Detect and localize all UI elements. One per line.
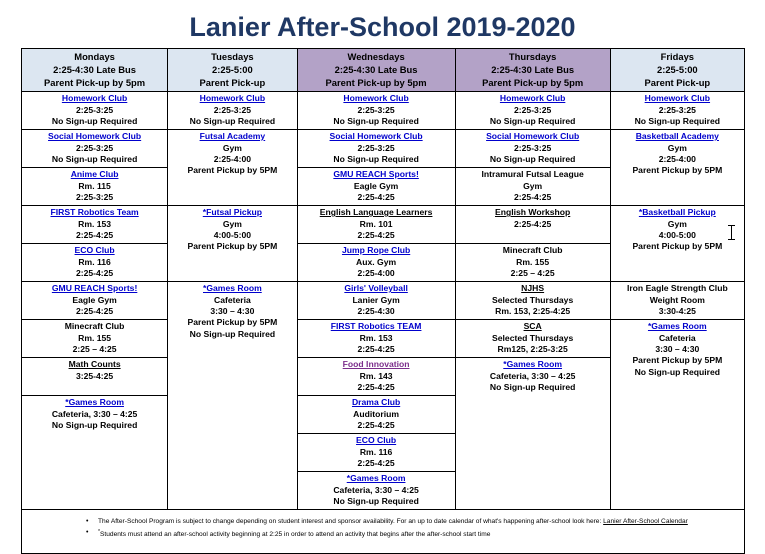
header-pickup-label: Parent Pick-up by 5pm bbox=[23, 77, 166, 90]
activity-title[interactable]: *Games Room bbox=[612, 321, 743, 332]
footer-note-text: The After-School Program is subject to c… bbox=[98, 516, 740, 527]
activity-cell: Homework Club2:25-3:25No Sign-up Require… bbox=[456, 92, 610, 130]
activity-detail: 2:25-3:25 bbox=[612, 105, 743, 116]
activity-cell: SCASelected ThursdaysRm125, 2:25-3:25 bbox=[456, 320, 610, 358]
activity-cell: *Games RoomCafeteria3:30 – 4:30Parent Pi… bbox=[168, 282, 296, 509]
activity-title[interactable]: *Games Room bbox=[299, 473, 454, 484]
activity-detail: 2:25-4:25 bbox=[299, 458, 454, 469]
activity-detail: 4:00-5:00 bbox=[612, 230, 743, 241]
activity-cell: English Language LearnersRm. 1012:25-4:2… bbox=[298, 206, 455, 244]
activity-detail: 2:25-4:00 bbox=[612, 154, 743, 165]
activity-cell: Drama ClubAuditorium2:25-4:25 bbox=[298, 396, 455, 434]
footer-note-body: The After-School Program is subject to c… bbox=[98, 518, 603, 525]
activity-detail: 2:25-3:25 bbox=[457, 143, 609, 154]
activity-detail: Rm. 153, 2:25-4:25 bbox=[457, 306, 609, 317]
activity-detail: Aux. Gym bbox=[299, 257, 454, 268]
activity-cell: Minecraft ClubRm. 1552:25 – 4:25 bbox=[22, 320, 167, 358]
footer-note: •The After-School Program is subject to … bbox=[26, 516, 740, 527]
calendar-table: Mondays2:25-4:30 Late BusParent Pick-up … bbox=[21, 48, 745, 510]
calendar-link[interactable]: Lanier After-School Calendar bbox=[603, 518, 688, 525]
activity-detail: Parent Pickup by 5PM bbox=[169, 317, 295, 328]
activity-detail: Rm. 115 bbox=[23, 181, 166, 192]
activity-detail: No Sign-up Required bbox=[23, 116, 166, 127]
activity-cell: Homework Club2:25-3:25No Sign-up Require… bbox=[22, 92, 167, 130]
header-pickup-label: Parent Pick-up bbox=[169, 77, 295, 90]
activity-cell: Intramural Futsal LeagueGym2:25-4:25 bbox=[456, 168, 610, 206]
activity-detail: Rm. 116 bbox=[299, 447, 454, 458]
activity-title: Minecraft Club bbox=[23, 321, 166, 332]
activity-cell: *Basketball PickupGym4:00-5:00Parent Pic… bbox=[611, 206, 744, 282]
activity-detail: Parent Pickup by 5PM bbox=[169, 165, 295, 176]
activity-cell: Homework Club2:25-3:25No Sign-up Require… bbox=[298, 92, 455, 130]
activity-title[interactable]: Homework Club bbox=[23, 93, 166, 104]
activity-detail bbox=[23, 382, 166, 393]
footer-note: •*Students must attend an after-school a… bbox=[26, 527, 740, 540]
activity-detail: Rm. 155 bbox=[457, 257, 609, 268]
activity-detail: No Sign-up Required bbox=[23, 154, 166, 165]
activity-title[interactable]: Homework Club bbox=[169, 93, 295, 104]
activity-title: Math Counts bbox=[23, 359, 166, 370]
header-time-label: 2:25-4:30 Late Bus bbox=[23, 64, 166, 77]
activity-detail: Parent Pickup by 5PM bbox=[612, 165, 743, 176]
calendar-column-thursdays: Homework Club2:25-3:25No Sign-up Require… bbox=[456, 92, 611, 509]
activity-title[interactable]: Jump Rope Club bbox=[299, 245, 454, 256]
activity-cell: GMU REACH Sports!Eagle Gym2:25-4:25 bbox=[298, 168, 455, 206]
header-pickup-label: Parent Pick-up by 5pm bbox=[457, 77, 609, 90]
activity-title: Iron Eagle Strength Club bbox=[612, 283, 743, 294]
activity-title[interactable]: *Futsal Pickup bbox=[169, 207, 295, 218]
activity-title[interactable]: ECO Club bbox=[23, 245, 166, 256]
activity-detail: No Sign-up Required bbox=[612, 367, 743, 378]
activity-cell: *Games RoomCafeteria, 3:30 – 4:25No Sign… bbox=[22, 396, 167, 509]
activity-detail: 2:25-3:25 bbox=[299, 105, 454, 116]
activity-detail: No Sign-up Required bbox=[169, 116, 295, 127]
activity-title[interactable]: Social Homework Club bbox=[299, 131, 454, 142]
header-pickup-label: Parent Pick-up by 5pm bbox=[299, 77, 454, 90]
header-day-label: Thursdays bbox=[457, 51, 609, 64]
activity-detail: No Sign-up Required bbox=[457, 382, 609, 393]
activity-detail: Selected Thursdays bbox=[457, 333, 609, 344]
activity-detail: Cafeteria bbox=[612, 333, 743, 344]
activity-detail: 2:25-4:25 bbox=[23, 230, 166, 241]
bullet-icon: • bbox=[86, 527, 98, 538]
calendar-header-mondays: Mondays2:25-4:30 Late BusParent Pick-up … bbox=[22, 49, 168, 92]
calendar-header-wednesdays: Wednesdays2:25-4:30 Late BusParent Pick-… bbox=[298, 49, 456, 92]
header-time-label: 2:25-4:30 Late Bus bbox=[299, 64, 454, 77]
activity-title[interactable]: Social Homework Club bbox=[23, 131, 166, 142]
activity-detail: No Sign-up Required bbox=[169, 329, 295, 340]
activity-title[interactable]: Drama Club bbox=[299, 397, 454, 408]
header-time-label: 2:25-4:30 Late Bus bbox=[457, 64, 609, 77]
activity-detail: Eagle Gym bbox=[299, 181, 454, 192]
activity-detail: Cafeteria, 3:30 – 4:25 bbox=[299, 485, 454, 496]
activity-detail: 2:25 – 4:25 bbox=[23, 344, 166, 355]
activity-detail: Rm. 143 bbox=[299, 371, 454, 382]
activity-detail: Parent Pickup by 5PM bbox=[169, 241, 295, 252]
activity-detail: Auditorium bbox=[299, 409, 454, 420]
activity-cell: Futsal AcademyGym2:25-4:00Parent Pickup … bbox=[168, 130, 296, 206]
activity-detail: Rm. 153 bbox=[299, 333, 454, 344]
activity-title[interactable]: Anime Club bbox=[23, 169, 166, 180]
activity-cell: *Games RoomCafeteria3:30 – 4:30Parent Pi… bbox=[611, 320, 744, 509]
header-pickup-label: Parent Pick-up bbox=[612, 77, 743, 90]
footer-note-text: *Students must attend an after-school ac… bbox=[98, 527, 740, 540]
activity-title[interactable]: *Games Room bbox=[457, 359, 609, 370]
activity-detail: 4:00-5:00 bbox=[169, 230, 295, 241]
activity-title[interactable]: Homework Club bbox=[457, 93, 609, 104]
activity-cell: GMU REACH Sports!Eagle Gym2:25-4:25 bbox=[22, 282, 167, 320]
header-day-label: Mondays bbox=[23, 51, 166, 64]
activity-title[interactable]: *Games Room bbox=[169, 283, 295, 294]
activity-cell: *Games RoomCafeteria, 3:30 – 4:25No Sign… bbox=[456, 358, 610, 509]
activity-detail: 3:30 – 4:30 bbox=[612, 344, 743, 355]
activity-title: Minecraft Club bbox=[457, 245, 609, 256]
activity-cell: Homework Club2:25-3:25No Sign-up Require… bbox=[168, 92, 296, 130]
header-day-label: Fridays bbox=[612, 51, 743, 64]
activity-detail: Gym bbox=[169, 219, 295, 230]
activity-detail: Cafeteria, 3:30 – 4:25 bbox=[457, 371, 609, 382]
activity-title[interactable]: GMU REACH Sports! bbox=[299, 169, 454, 180]
activity-title[interactable]: Food Innovation bbox=[299, 359, 454, 370]
activity-title[interactable]: *Games Room bbox=[23, 397, 166, 408]
activity-cell: Anime ClubRm. 1152:25-3:25 bbox=[22, 168, 167, 206]
activity-detail: Selected Thursdays bbox=[457, 295, 609, 306]
activity-cell: Basketball AcademyGym2:25-4:00Parent Pic… bbox=[611, 130, 744, 206]
activity-detail: 2:25-3:25 bbox=[299, 143, 454, 154]
activity-title[interactable]: *Basketball Pickup bbox=[612, 207, 743, 218]
calendar-header-tuesdays: Tuesdays2:25-5:00Parent Pick-up bbox=[168, 49, 297, 92]
activity-detail: No Sign-up Required bbox=[457, 116, 609, 127]
activity-detail: 2:25-3:25 bbox=[23, 143, 166, 154]
activity-cell: NJHSSelected ThursdaysRm. 153, 2:25-4:25 bbox=[456, 282, 610, 320]
activity-cell: Math Counts3:25-4:25 bbox=[22, 358, 167, 396]
activity-cell: FIRST Robotics TEAMRm. 1532:25-4:25 bbox=[298, 320, 455, 358]
activity-cell: *Futsal PickupGym4:00-5:00Parent Pickup … bbox=[168, 206, 296, 282]
activity-detail: 2:25-3:25 bbox=[23, 192, 166, 203]
activity-title: NJHS bbox=[457, 283, 609, 294]
activity-cell: Jump Rope ClubAux. Gym2:25-4:00 bbox=[298, 244, 455, 282]
activity-detail: 2:25-4:25 bbox=[299, 382, 454, 393]
activity-title: Intramural Futsal League bbox=[457, 169, 609, 180]
activity-detail: 2:25-4:00 bbox=[299, 268, 454, 279]
activity-detail: 2:25 – 4:25 bbox=[457, 268, 609, 279]
activity-detail: No Sign-up Required bbox=[299, 496, 454, 507]
activity-cell: Social Homework Club2:25-3:25No Sign-up … bbox=[456, 130, 610, 168]
activity-cell: Food InnovationRm. 1432:25-4:25 bbox=[298, 358, 455, 396]
activity-detail: 2:25-4:25 bbox=[457, 219, 609, 230]
activity-detail: No Sign-up Required bbox=[23, 420, 166, 431]
activity-cell: English Workshop2:25-4:25 bbox=[456, 206, 610, 244]
activity-detail: Gym bbox=[612, 219, 743, 230]
activity-cell: Girls' VolleyballLanier Gym2:25-4:30 bbox=[298, 282, 455, 320]
activity-detail: 2:25-4:25 bbox=[23, 268, 166, 279]
activity-detail: 2:25-4:25 bbox=[299, 230, 454, 241]
activity-title: SCA bbox=[457, 321, 609, 332]
activity-detail: Rm. 155 bbox=[23, 333, 166, 344]
activity-detail: Weight Room bbox=[612, 295, 743, 306]
activity-title[interactable]: FIRST Robotics TEAM bbox=[299, 321, 454, 332]
activity-detail: Lanier Gym bbox=[299, 295, 454, 306]
activity-detail: 2:25-4:25 bbox=[23, 306, 166, 317]
footer-notes: •The After-School Program is subject to … bbox=[21, 510, 745, 554]
activity-detail: No Sign-up Required bbox=[457, 154, 609, 165]
activity-detail: No Sign-up Required bbox=[299, 116, 454, 127]
activity-cell: Iron Eagle Strength ClubWeight Room3:30-… bbox=[611, 282, 744, 320]
calendar-header-row: Mondays2:25-4:30 Late BusParent Pick-up … bbox=[22, 49, 744, 92]
activity-detail: 3:30-4:25 bbox=[612, 306, 743, 317]
activity-title[interactable]: Social Homework Club bbox=[457, 131, 609, 142]
activity-detail: Cafeteria, 3:30 – 4:25 bbox=[23, 409, 166, 420]
activity-detail: Parent Pickup by 5PM bbox=[612, 241, 743, 252]
calendar-column-mondays: Homework Club2:25-3:25No Sign-up Require… bbox=[22, 92, 168, 509]
activity-title[interactable]: Homework Club bbox=[612, 93, 743, 104]
activity-title[interactable]: Homework Club bbox=[299, 93, 454, 104]
calendar-body-row: Homework Club2:25-3:25No Sign-up Require… bbox=[22, 92, 744, 509]
activity-cell: Homework Club2:25-3:25No Sign-up Require… bbox=[611, 92, 744, 130]
activity-detail: Gym bbox=[612, 143, 743, 154]
calendar-header-thursdays: Thursdays2:25-4:30 Late BusParent Pick-u… bbox=[456, 49, 611, 92]
activity-detail: 2:25-3:25 bbox=[457, 105, 609, 116]
activity-detail: No Sign-up Required bbox=[299, 154, 454, 165]
calendar-column-wednesdays: Homework Club2:25-3:25No Sign-up Require… bbox=[298, 92, 456, 509]
activity-detail: Cafeteria bbox=[169, 295, 295, 306]
activity-detail: 3:30 – 4:30 bbox=[169, 306, 295, 317]
activity-detail: 2:25-4:25 bbox=[299, 192, 454, 203]
activity-title: English Workshop bbox=[457, 207, 609, 218]
activity-detail: Rm. 153 bbox=[23, 219, 166, 230]
calendar-column-tuesdays: Homework Club2:25-3:25No Sign-up Require… bbox=[168, 92, 297, 509]
activity-detail: Gym bbox=[457, 181, 609, 192]
header-time-label: 2:25-5:00 bbox=[612, 64, 743, 77]
footer-note-body: Students must attend an after-school act… bbox=[100, 532, 490, 539]
activity-title[interactable]: Girls' Volleyball bbox=[299, 283, 454, 294]
bullet-icon: • bbox=[86, 516, 98, 527]
activity-cell: Minecraft ClubRm. 1552:25 – 4:25 bbox=[456, 244, 610, 282]
activity-detail: Rm. 116 bbox=[23, 257, 166, 268]
activity-title[interactable]: Futsal Academy bbox=[169, 131, 295, 142]
activity-title[interactable]: ECO Club bbox=[299, 435, 454, 446]
activity-detail: 2:25-4:25 bbox=[299, 344, 454, 355]
activity-cell: Social Homework Club2:25-3:25No Sign-up … bbox=[298, 130, 455, 168]
activity-title[interactable]: FIRST Robotics Team bbox=[23, 207, 166, 218]
calendar-column-fridays: Homework Club2:25-3:25No Sign-up Require… bbox=[611, 92, 744, 509]
page-title: Lanier After-School 2019-2020 bbox=[0, 0, 765, 48]
activity-detail: 3:25-4:25 bbox=[23, 371, 166, 382]
activity-detail: 2:25-3:25 bbox=[23, 105, 166, 116]
activity-detail: 2:25-4:00 bbox=[169, 154, 295, 165]
activity-cell: Social Homework Club2:25-3:25No Sign-up … bbox=[22, 130, 167, 168]
header-time-label: 2:25-5:00 bbox=[169, 64, 295, 77]
activity-detail bbox=[457, 230, 609, 241]
activity-detail: Gym bbox=[169, 143, 295, 154]
activity-cell: ECO ClubRm. 1162:25-4:25 bbox=[298, 434, 455, 472]
activity-detail: Rm125, 2:25-3:25 bbox=[457, 344, 609, 355]
activity-detail: 2:25-4:25 bbox=[457, 192, 609, 203]
activity-detail: 2:25-3:25 bbox=[169, 105, 295, 116]
activity-cell: *Games RoomCafeteria, 3:30 – 4:25No Sign… bbox=[298, 472, 455, 509]
calendar-header-fridays: Fridays2:25-5:00Parent Pick-up bbox=[611, 49, 744, 92]
after-school-calendar-page: Lanier After-School 2019-2020 Mondays2:2… bbox=[0, 0, 765, 541]
activity-cell: ECO ClubRm. 1162:25-4:25 bbox=[22, 244, 167, 282]
header-day-label: Wednesdays bbox=[299, 51, 454, 64]
activity-detail: Parent Pickup by 5PM bbox=[612, 355, 743, 366]
activity-detail: 2:25-4:25 bbox=[299, 420, 454, 431]
header-day-label: Tuesdays bbox=[169, 51, 295, 64]
activity-title[interactable]: Basketball Academy bbox=[612, 131, 743, 142]
activity-title: English Language Learners bbox=[299, 207, 454, 218]
activity-detail: Rm. 101 bbox=[299, 219, 454, 230]
activity-title[interactable]: GMU REACH Sports! bbox=[23, 283, 166, 294]
activity-detail: No Sign-up Required bbox=[612, 116, 743, 127]
activity-detail: Eagle Gym bbox=[23, 295, 166, 306]
activity-detail: 2:25-4:30 bbox=[299, 306, 454, 317]
activity-cell: FIRST Robotics TeamRm. 1532:25-4:25 bbox=[22, 206, 167, 244]
